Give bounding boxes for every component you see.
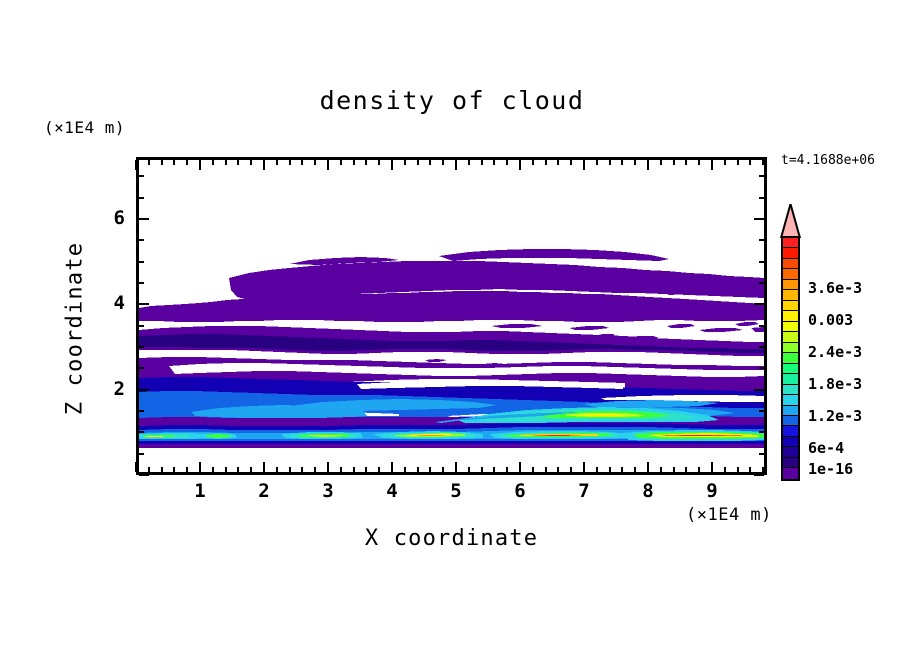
x-tick-minor-top (314, 160, 316, 165)
x-tick-minor (314, 467, 316, 472)
y-tick-minor-right (759, 410, 764, 412)
x-tick-minor (634, 467, 636, 472)
x-tick-minor-top (749, 160, 751, 165)
colorbar-band (783, 343, 798, 353)
x-tick-minor (532, 467, 534, 472)
x-tick-minor-top (570, 160, 572, 165)
colorbar-band (783, 269, 798, 279)
x-tick-major (263, 462, 265, 472)
x-tick-major-top (647, 160, 649, 170)
x-tick-minor (276, 467, 278, 472)
x-tick-minor-top (481, 160, 483, 165)
x-tick-label: 9 (700, 480, 724, 502)
x-tick-minor-top (596, 160, 598, 165)
y-tick-minor-right (759, 346, 764, 348)
y-axis-title: Z coordinate (63, 199, 88, 459)
y-tick-minor (139, 239, 144, 241)
y-tick-minor (139, 197, 144, 199)
x-tick-major (583, 462, 585, 472)
colorbar-tick-label: 1.2e-3 (808, 407, 862, 425)
x-tick-minor-top (468, 160, 470, 165)
x-tick-minor (596, 467, 598, 472)
x-tick-minor (186, 467, 188, 472)
colorbar-band (783, 437, 798, 447)
x-tick-label: 1 (188, 480, 212, 502)
x-tick-major-top (519, 160, 521, 170)
x-tick-minor (621, 467, 623, 472)
x-tick-label: 8 (636, 480, 660, 502)
colorbar (781, 236, 800, 481)
x-tick-minor-top (685, 160, 687, 165)
colorbar-tick-label: 3.6e-3 (808, 279, 862, 297)
y-tick-minor-right (759, 367, 764, 369)
x-tick-minor-top (173, 160, 175, 165)
colorbar-tick-label: 0.003 (808, 311, 853, 329)
y-tick-major (139, 389, 149, 391)
x-tick-major (391, 462, 393, 472)
x-tick-minor (506, 467, 508, 472)
x-tick-minor-top (673, 160, 675, 165)
x-tick-minor-top (301, 160, 303, 165)
x-tick-major (327, 462, 329, 472)
x-tick-minor (698, 467, 700, 472)
x-tick-minor (724, 467, 726, 472)
y-tick-minor-right (759, 431, 764, 433)
colorbar-tick-label: 6e-4 (808, 439, 844, 457)
x-tick-minor (173, 467, 175, 472)
x-tick-minor (481, 467, 483, 472)
colorbar-band (783, 416, 798, 426)
colorbar-band (783, 301, 798, 311)
x-tick-minor-top (289, 160, 291, 165)
x-tick-minor (685, 467, 687, 472)
x-tick-minor (148, 467, 150, 472)
y-tick-minor-right (759, 453, 764, 455)
x-tick-minor (404, 467, 406, 472)
y-tick-minor (139, 431, 144, 433)
x-tick-minor (660, 467, 662, 472)
x-tick-minor (353, 467, 355, 472)
x-tick-minor-top (148, 160, 150, 165)
x-tick-minor-top (493, 160, 495, 165)
colorbar-band (783, 385, 798, 395)
colorbar-tick-label: 1.8e-3 (808, 375, 862, 393)
y-tick-minor-right (759, 175, 764, 177)
y-tick-label: 2 (101, 378, 125, 400)
colorbar-band (783, 322, 798, 332)
x-tick-minor (673, 467, 675, 472)
x-tick-minor (289, 467, 291, 472)
x-tick-minor-top (212, 160, 214, 165)
y-tick-minor (139, 325, 144, 327)
x-tick-minor-top (186, 160, 188, 165)
x-tick-minor-top (353, 160, 355, 165)
colorbar-band (783, 395, 798, 405)
x-tick-minor (545, 467, 547, 472)
time-stamp-label: t=4.1688e+06 (781, 153, 875, 168)
y-tick-minor (139, 282, 144, 284)
x-tick-minor (365, 467, 367, 472)
x-tick-minor (237, 467, 239, 472)
x-tick-minor-top (276, 160, 278, 165)
colorbar-band (783, 458, 798, 468)
x-tick-label: 4 (380, 480, 404, 502)
far-right-streak (621, 430, 764, 441)
x-tick-minor (250, 467, 252, 472)
x-tick-minor (301, 467, 303, 472)
x-tick-minor-top (237, 160, 239, 165)
colorbar-band (783, 426, 798, 436)
x-axis-unit-label: (×1E4 m) (686, 505, 772, 525)
x-tick-major-top (583, 160, 585, 170)
colorbar-tick-label: 2.4e-3 (808, 343, 862, 361)
x-tick-major (135, 462, 137, 472)
x-tick-minor-top (506, 160, 508, 165)
y-tick-minor (139, 261, 144, 263)
x-tick-minor (417, 467, 419, 472)
x-tick-minor (570, 467, 572, 472)
y-tick-label: 6 (101, 207, 125, 229)
y-tick-label: 4 (101, 292, 125, 314)
x-tick-major (455, 462, 457, 472)
x-tick-major (519, 462, 521, 472)
x-tick-major-top (327, 160, 329, 170)
x-tick-major (199, 462, 201, 472)
x-tick-minor-top (404, 160, 406, 165)
colorbar-band (783, 248, 798, 258)
x-tick-major-top (455, 160, 457, 170)
y-tick-minor-right (759, 325, 764, 327)
x-tick-minor-top (762, 160, 764, 165)
y-tick-major (139, 218, 149, 220)
y-tick-minor (139, 410, 144, 412)
y-tick-minor (139, 175, 144, 177)
colorbar-band (783, 364, 798, 374)
colorbar-band (783, 290, 798, 300)
x-tick-minor-top (532, 160, 534, 165)
x-tick-minor-top (724, 160, 726, 165)
figure-canvas: density of cloud (×1E4 m) t=4.1688e+06 (0, 0, 904, 654)
colorbar-band (783, 406, 798, 416)
y-tick-major-right (754, 474, 764, 476)
x-tick-minor (557, 467, 559, 472)
y-tick-minor (139, 346, 144, 348)
x-tick-minor-top (737, 160, 739, 165)
colorbar-band (783, 447, 798, 457)
x-tick-minor-top (634, 160, 636, 165)
x-tick-minor (225, 467, 227, 472)
x-tick-minor-top (378, 160, 380, 165)
x-tick-label: 7 (572, 480, 596, 502)
colorbar-band (783, 374, 798, 384)
x-tick-minor (212, 467, 214, 472)
colorbar-band (783, 332, 798, 342)
y-tick-major-right (754, 389, 764, 391)
colorbar-band (783, 259, 798, 269)
x-tick-minor-top (340, 160, 342, 165)
x-tick-minor-top (250, 160, 252, 165)
colorbar-band (783, 468, 798, 478)
colorbar-over-arrow (779, 204, 802, 238)
y-tick-minor (139, 453, 144, 455)
x-tick-minor-top (609, 160, 611, 165)
x-tick-major (647, 462, 649, 472)
x-tick-minor (468, 467, 470, 472)
x-tick-minor (493, 467, 495, 472)
x-tick-minor (737, 467, 739, 472)
x-tick-minor-top (698, 160, 700, 165)
y-tick-major (139, 474, 149, 476)
x-tick-minor (161, 467, 163, 472)
y-axis-unit-label: (×1E4 m) (44, 118, 125, 137)
x-tick-major (711, 462, 713, 472)
x-tick-minor (378, 467, 380, 472)
x-tick-minor (749, 467, 751, 472)
x-tick-minor-top (660, 160, 662, 165)
x-tick-minor-top (365, 160, 367, 165)
y-tick-major-right (754, 303, 764, 305)
x-tick-major-top (711, 160, 713, 170)
contour-field (139, 160, 764, 472)
x-tick-minor (340, 467, 342, 472)
y-tick-minor (139, 367, 144, 369)
x-tick-minor (762, 467, 764, 472)
x-tick-major-top (263, 160, 265, 170)
x-tick-minor-top (161, 160, 163, 165)
y-tick-major-right (754, 218, 764, 220)
x-tick-major-top (391, 160, 393, 170)
x-tick-minor-top (557, 160, 559, 165)
x-tick-minor-top (429, 160, 431, 165)
x-tick-label: 6 (508, 480, 532, 502)
x-tick-minor (609, 467, 611, 472)
x-tick-minor-top (442, 160, 444, 165)
colorbar-tick-label: 1e-16 (808, 460, 853, 478)
x-tick-label: 5 (444, 480, 468, 502)
colorbar-band (783, 280, 798, 290)
x-tick-minor-top (621, 160, 623, 165)
x-tick-major-top (135, 160, 137, 170)
y-tick-major (139, 303, 149, 305)
page-title: density of cloud (0, 86, 904, 115)
y-tick-minor-right (759, 282, 764, 284)
x-tick-minor-top (545, 160, 547, 165)
colorbar-band (783, 311, 798, 321)
x-tick-minor-top (417, 160, 419, 165)
x-tick-minor (442, 467, 444, 472)
x-tick-major-top (199, 160, 201, 170)
x-tick-minor (429, 467, 431, 472)
x-tick-label: 3 (316, 480, 340, 502)
y-tick-minor-right (759, 239, 764, 241)
colorbar-band (783, 353, 798, 363)
x-tick-label: 2 (252, 480, 276, 502)
y-tick-minor-right (759, 197, 764, 199)
x-axis-title: X coordinate (136, 526, 767, 551)
x-tick-minor-top (225, 160, 227, 165)
colorbar-band (783, 238, 798, 248)
y-tick-minor-right (759, 261, 764, 263)
